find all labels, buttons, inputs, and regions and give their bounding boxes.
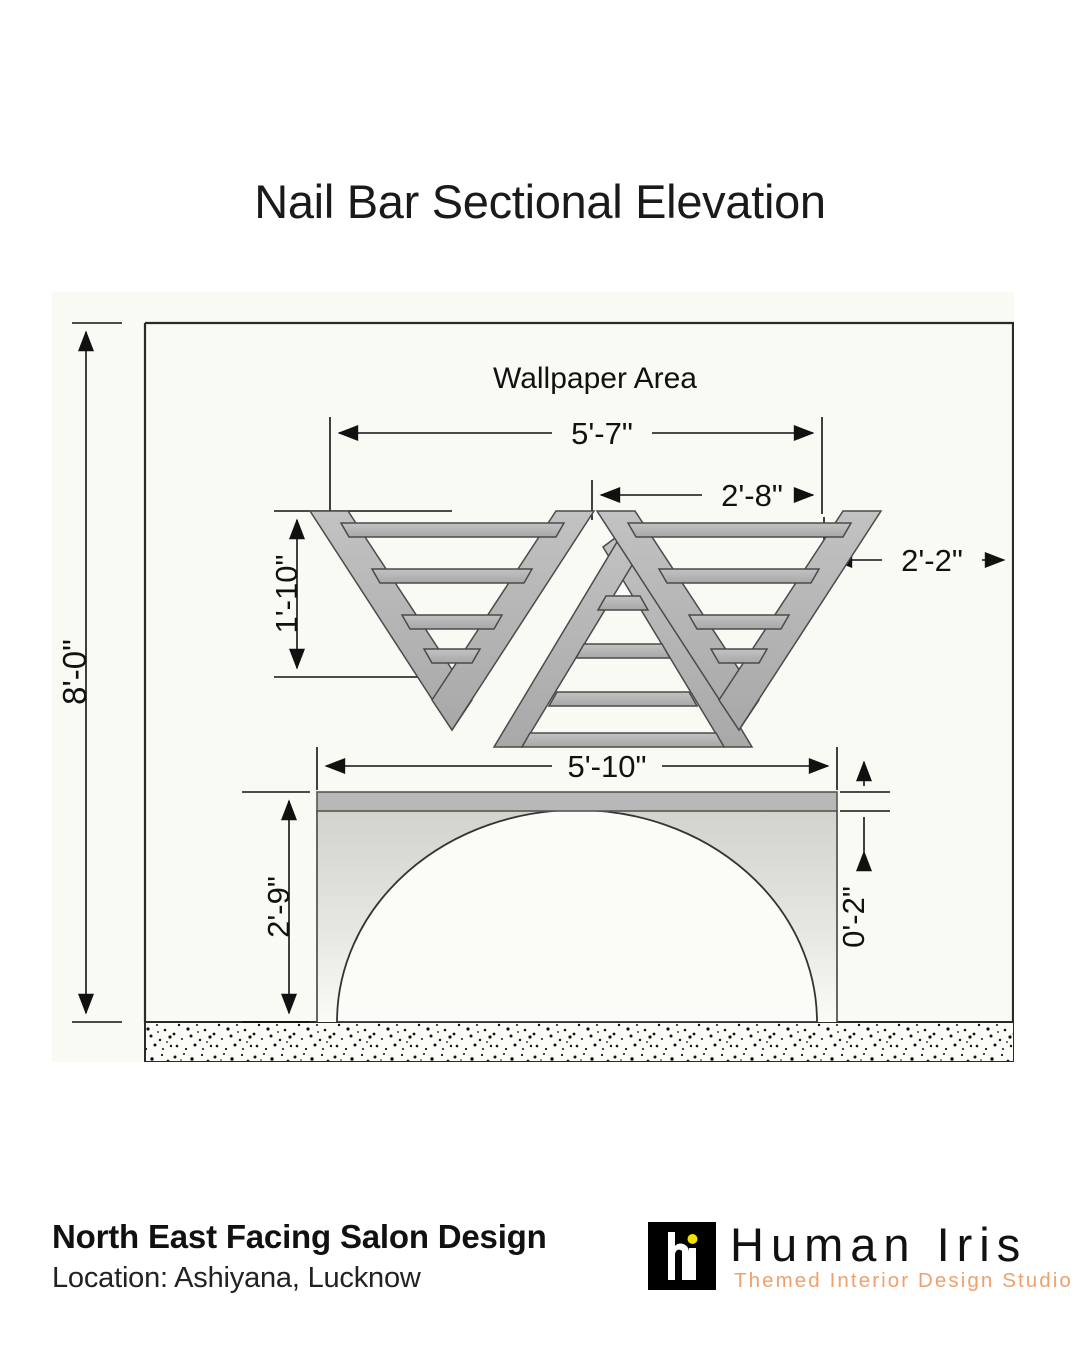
dimension-counter-width-label: 5'-10" xyxy=(568,749,647,784)
nail-bar-counter xyxy=(317,792,837,1022)
dimension-shelf-right-offset-label: 2'-2" xyxy=(901,543,963,578)
footer: North East Facing Salon Design Location:… xyxy=(0,1210,1080,1330)
project-title: North East Facing Salon Design xyxy=(52,1218,547,1256)
logo-wordmark: Human Iris xyxy=(730,1218,1027,1272)
page-title: Nail Bar Sectional Elevation xyxy=(0,178,1080,225)
drawing-panel: 8'-0" Wallpaper Area 5'-7" 2'-8" xyxy=(52,292,1014,1062)
wallpaper-area-label: Wallpaper Area xyxy=(493,362,697,395)
floor-band xyxy=(145,1022,1014,1062)
elevation-drawing: 8'-0" Wallpaper Area 5'-7" 2'-8" xyxy=(52,292,1014,1062)
project-location: Location: Ashiyana, Lucknow xyxy=(52,1262,421,1295)
dimension-counter-top-thickness-label: 0'-2" xyxy=(836,886,871,948)
logo-tagline: Themed Interior Design Studio xyxy=(734,1269,1073,1293)
sectional-elevation-page: Nail Bar Sectional Elevation xyxy=(0,0,1080,1350)
dimension-shelf-right-width-label: 2'-8" xyxy=(721,478,783,513)
logo-mark-icon xyxy=(648,1222,716,1290)
dimension-shelf-total-width-label: 5'-7" xyxy=(571,416,633,451)
dimension-overall-height-label: 8'-0" xyxy=(56,639,93,705)
studio-logo: Human Iris Themed Interior Design Studio xyxy=(648,1220,1040,1308)
dimension-counter-height-label: 2'-9" xyxy=(261,876,296,938)
dimension-shelf-height-label: 1'-10" xyxy=(269,555,304,634)
